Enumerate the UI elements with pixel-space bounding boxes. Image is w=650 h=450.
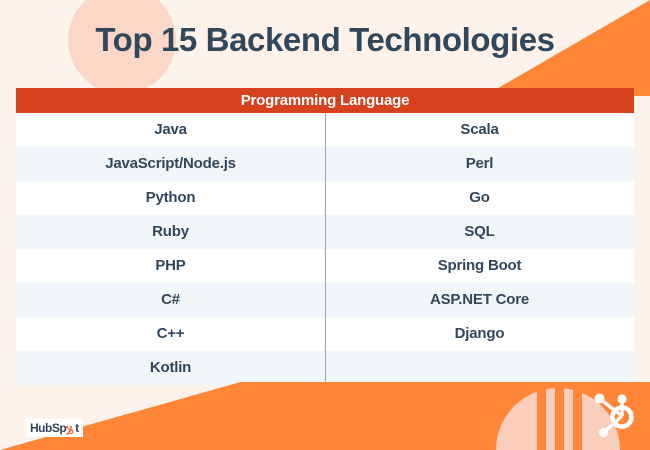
table-cell-left: Kotlin — [16, 351, 325, 385]
table-cell-right: Go — [325, 181, 634, 215]
table-cell-right — [325, 351, 634, 385]
table-cell-left: Python — [16, 181, 325, 215]
table-body: JavaScalaJavaScript/Node.jsPerlPythonGoR… — [16, 113, 634, 385]
logo-text-after: t — [75, 421, 79, 435]
table-cell-left: JavaScript/Node.js — [16, 147, 325, 181]
semicircle-stripe — [555, 388, 564, 450]
table-cell-left: Java — [16, 113, 325, 147]
table-cell-right: Spring Boot — [325, 249, 634, 283]
table-header-programming-language: Programming Language — [16, 88, 634, 113]
table-cell-right: Scala — [325, 113, 634, 147]
table-cell-left: C# — [16, 283, 325, 317]
hubspot-logo[interactable]: HubSp t — [26, 419, 83, 437]
column-divider — [325, 113, 326, 385]
table-cell-right: Django — [325, 317, 634, 351]
table-cell-left: PHP — [16, 249, 325, 283]
table-cell-left: Ruby — [16, 215, 325, 249]
table-cell-left: C++ — [16, 317, 325, 351]
technologies-table: Programming Language JavaScalaJavaScript… — [16, 88, 634, 385]
semicircle-stripe — [537, 388, 546, 450]
infographic-canvas: Top 15 Backend Technologies Programming … — [0, 0, 650, 450]
table-cell-right: Perl — [325, 147, 634, 181]
semicircle-stripe — [573, 388, 582, 450]
page-title: Top 15 Backend Technologies — [0, 18, 650, 62]
table-cell-right: ASP.NET Core — [325, 283, 634, 317]
hubspot-sprocket-icon — [588, 388, 644, 444]
table-cell-right: SQL — [325, 215, 634, 249]
logo-text-before: HubSp — [30, 421, 66, 435]
